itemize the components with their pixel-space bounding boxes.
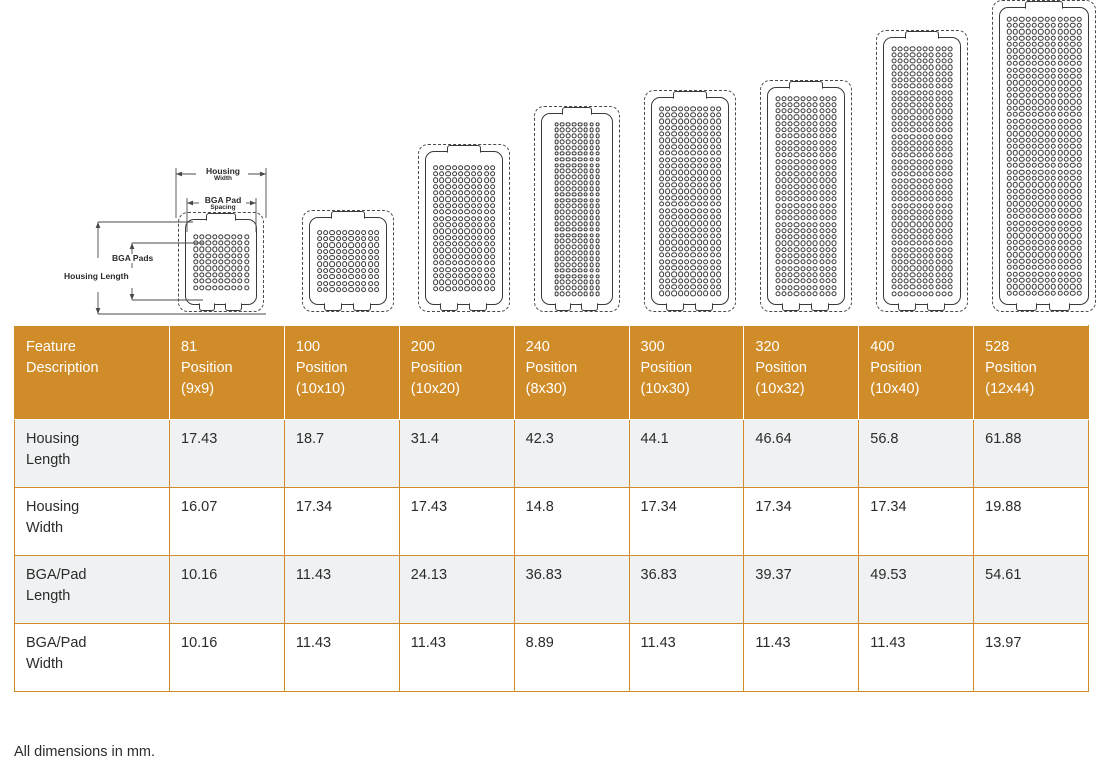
bga-pad [800,247,805,252]
bga-pad [554,163,559,168]
bga-pad [781,140,786,145]
bga-pad [825,197,830,202]
bga-pad [1006,61,1011,66]
bga-pad [560,204,565,209]
bga-pad [788,209,793,214]
bga-pad [578,163,583,168]
bga-pad [1013,208,1018,213]
bga-pad [1045,239,1050,244]
bga-pad [490,280,495,285]
bga-pad [361,236,366,241]
bga-pad [825,234,830,239]
bga-pad [349,242,354,247]
bga-pad [583,175,588,180]
bga-pad [1057,208,1062,213]
bga-pad [566,128,571,133]
bga-pad [897,96,902,101]
bga-pad [560,128,565,133]
bga-pad [775,121,780,126]
bga-pad [560,239,565,244]
bga-pad [1019,144,1024,149]
bga-pad [923,260,928,265]
bga-pad [1070,67,1075,72]
table-row: BGA/Pad Length10.1611.4324.1336.8336.833… [15,556,1089,624]
bga-pad [794,108,799,113]
bga-pad [566,169,571,174]
bga-pad [439,190,444,195]
bga-pad [490,254,495,259]
bga-pad [1025,157,1030,162]
bga-pad [819,184,824,189]
bga-pad [819,134,824,139]
bga-pad [659,265,664,270]
bga-pad [484,229,489,234]
bga-pad [1064,239,1069,244]
bga-pad [794,241,799,246]
bga-pad [1045,55,1050,60]
bga-pad [684,125,689,130]
bga-pad [477,197,482,202]
bga-pad [1019,176,1024,181]
bga-pad-grid [775,95,838,297]
bga-pad [897,203,902,208]
table-row: Housing Length17.4318.731.442.344.146.64… [15,420,1089,488]
bga-pad [819,253,824,258]
bga-pad [941,140,946,145]
bga-pad [941,234,946,239]
bga-pad [788,222,793,227]
bga-pad [697,106,702,111]
bga-pad [595,204,600,209]
bga-pad [1032,278,1037,283]
bga-pad [678,144,683,149]
bga-pad [897,140,902,145]
bga-pad [560,274,565,279]
bga-pad [697,265,702,270]
bga-pad [710,291,715,296]
bga-pad [1013,80,1018,85]
bga-pad [458,248,463,253]
bga-pad [935,197,940,202]
bga-pad [929,146,934,151]
bga-pad [671,106,676,111]
bga-pad [578,151,583,156]
bga-pad [572,233,577,238]
bga-pad [445,216,450,221]
bga-pad [1045,150,1050,155]
bga-pad [671,284,676,289]
bga-pad [832,228,837,233]
bga-pad [578,291,583,296]
bga-pad [471,260,476,265]
bga-pad [935,247,940,252]
header-line: (10x10) [296,379,388,400]
bga-pad [1013,188,1018,193]
bga-pad [781,241,786,246]
bga-pad [458,209,463,214]
bga-pad [1006,137,1011,142]
bga-pad [566,134,571,139]
bga-pad [923,90,928,95]
bga-pad [1013,55,1018,60]
bga-pad [1006,144,1011,149]
bga-pad [583,262,588,267]
bga-pad [465,171,470,176]
bga-pad [595,122,600,127]
bga-pad [800,222,805,227]
bga-pad [458,184,463,189]
bga-pad [794,134,799,139]
bga-pad [595,251,600,256]
bga-pad [781,285,786,290]
bga-pad [794,285,799,290]
bga-pad [916,291,921,296]
bga-pad [775,266,780,271]
bga-pad [1038,144,1043,149]
bga-pad [1045,278,1050,283]
bga-pad [1032,118,1037,123]
bga-pad [923,115,928,120]
bga-pad [445,248,450,253]
bga-pad [445,203,450,208]
row-header-cell: Housing Width [15,488,170,556]
bga-pad [445,190,450,195]
bga-pad [490,209,495,214]
bga-pad [788,159,793,164]
bga-pad [904,134,909,139]
bga-pad [465,235,470,240]
bga-pad [897,165,902,170]
bga-pad [1013,220,1018,225]
bga-pad [897,52,902,57]
bga-pad [1006,99,1011,104]
header-line: 81 [181,337,273,358]
bga-pad [560,210,565,215]
bga-pad [710,227,715,232]
bga-pad [484,222,489,227]
bga-pad [1025,259,1030,264]
bga-pad [1076,163,1081,168]
bga-pad [800,178,805,183]
bga-pad [941,103,946,108]
bga-pad [935,222,940,227]
bga-pad [781,102,786,107]
bga-pad [794,215,799,220]
bga-pad [703,138,708,143]
bga-pad [361,274,366,279]
bga-pad [1032,125,1037,130]
bga-pad [439,203,444,208]
bga-pad [832,278,837,283]
bga-pad [1032,93,1037,98]
bga-pad [684,284,689,289]
bga-pad [439,229,444,234]
bga-pad [910,96,915,101]
bga-pad [948,272,953,277]
bga-pad [578,157,583,162]
bga-pad [910,165,915,170]
bga-pad [1032,182,1037,187]
bga-pad [703,112,708,117]
header-line: 400 [870,337,962,358]
bga-pad [916,216,921,221]
bga-pad [891,260,896,265]
bga-pad [941,59,946,64]
bga-pad [897,128,902,133]
bga-pad [659,221,664,226]
bga-pad [659,240,664,245]
bga-pad [916,260,921,265]
bga-pad [589,169,594,174]
bga-pad [1019,74,1024,79]
bga-pad [589,227,594,232]
bga-pad [589,128,594,133]
bga-pad [1076,86,1081,91]
bga-pad [935,178,940,183]
bga-pad [1032,48,1037,53]
bga-pad [665,214,670,219]
bga-pad [458,203,463,208]
bga-pad [583,251,588,256]
bga-pad [1038,252,1043,257]
bga-pad [566,175,571,180]
bga-pad [897,77,902,82]
bga-pad [1045,220,1050,225]
header-line: (10x40) [870,379,962,400]
bga-pad [710,163,715,168]
bga-pad [1057,48,1062,53]
bga-pad [1032,227,1037,232]
bga-pad [465,197,470,202]
bga-pad [916,46,921,51]
bga-pad [1064,55,1069,60]
bga-pad [595,198,600,203]
bga-pad [916,178,921,183]
bga-pad [1045,74,1050,79]
bga-pad [433,273,438,278]
bga-pad [433,254,438,259]
bga-pad [1057,125,1062,130]
shell-notch [353,303,371,311]
bga-pad [554,139,559,144]
bga-pad [484,197,489,202]
bga-pad [807,247,812,252]
bga-pad [910,253,915,258]
dimension-cell: 56.8 [859,420,974,488]
shell-notch [562,107,593,115]
bga-pad [1051,86,1056,91]
bga-pad [1038,233,1043,238]
bga-pad [1019,55,1024,60]
bga-pad [781,209,786,214]
bga-pad [891,159,896,164]
bga-pad [1051,233,1056,238]
bga-pad [923,266,928,271]
bga-pad [578,192,583,197]
bga-pad [781,253,786,258]
bga-pad [1051,157,1056,162]
shell-notch [811,303,829,311]
bga-pad [891,65,896,70]
bga-pad [832,127,837,132]
bga-pad [349,262,354,267]
bga-pad [819,159,824,164]
bga-pad [904,285,909,290]
bga-pad [1032,144,1037,149]
bga-pad [1019,80,1024,85]
bga-pad [471,184,476,189]
bga-pad [1045,233,1050,238]
bga-pad [1051,201,1056,206]
bga-pad [554,128,559,133]
bga-pad [477,229,482,234]
bga-pad [1045,125,1050,130]
bga-pad [665,208,670,213]
bga-pad [948,247,953,252]
bga-pad [572,180,577,185]
bga-pad [781,115,786,120]
bga-pad [825,153,830,158]
bga-pad [948,77,953,82]
bga-pad [703,272,708,277]
bga-pad [1057,150,1062,155]
bga-pad [471,190,476,195]
bga-pad [566,145,571,150]
bga-pad [825,96,830,101]
bga-pad [665,144,670,149]
bga-pad [710,214,715,219]
bga-pad [678,214,683,219]
bga-pad [813,171,818,176]
bga-pad [825,253,830,258]
bga-pad [484,280,489,285]
bga-pad [1045,290,1050,295]
bga-pad [368,274,373,279]
bga-pad [923,272,928,277]
bga-pad [1070,86,1075,91]
bga-pad [691,214,696,219]
bga-pad [572,291,577,296]
bga-pad [1019,201,1024,206]
bga-pad [716,138,721,143]
bga-pad [374,242,379,247]
bga-pad [1057,259,1062,264]
bga-pad [349,236,354,241]
bga-pad [1019,61,1024,66]
bga-pad [807,153,812,158]
bga-pad [566,291,571,296]
bga-pad [929,46,934,51]
bga-pad [684,176,689,181]
bga-pad [1051,284,1056,289]
bga-pad [788,278,793,283]
bga-pad [1019,284,1024,289]
bga-pad [794,153,799,158]
bga-pad [775,159,780,164]
bga-pad [671,151,676,156]
bga-pad [1045,265,1050,270]
bga-pad [595,268,600,273]
header-line: Position [755,358,847,379]
bga-pad [1038,271,1043,276]
bga-pad [800,146,805,151]
bga-pad [1013,99,1018,104]
bga-pad [897,241,902,246]
bga-pad [578,239,583,244]
bga-pad [897,291,902,296]
bga-pad [929,84,934,89]
bga-pad [948,52,953,57]
bga-pad [1025,150,1030,155]
bga-pad [1025,182,1030,187]
bga-pad [775,108,780,113]
bga-pad [929,103,934,108]
bga-pad [897,153,902,158]
bga-pad [1013,48,1018,53]
bga-pad [1070,233,1075,238]
bga-pad [1025,99,1030,104]
bga-pad [1019,112,1024,117]
bga-pad [572,122,577,127]
bga-pad [923,165,928,170]
row-header-cell: BGA/Pad Length [15,556,170,624]
bga-pad [1019,214,1024,219]
bga-pad [659,176,664,181]
bga-pad [800,197,805,202]
bga-pad [916,121,921,126]
bga-pad [794,203,799,208]
bga-pad [684,221,689,226]
bga-pad [433,267,438,272]
bga-pad [1013,150,1018,155]
bga-pad [452,235,457,240]
bga-pad [374,287,379,292]
bga-pad [484,216,489,221]
bga-pad [904,140,909,145]
bga-pad [935,216,940,221]
bga-pad [665,138,670,143]
bga-pad [452,209,457,214]
bga-pad [1051,118,1056,123]
bga-pad [697,284,702,289]
bga-pad [1057,220,1062,225]
column-header-position: 81Position(9x9) [170,326,285,420]
bga-pad [665,221,670,226]
bga-pad [1025,23,1030,28]
bga-pad [929,216,934,221]
bga-pad [897,178,902,183]
bga-pad [578,268,583,273]
bga-pad [775,253,780,258]
bga-pad [1032,246,1037,251]
bga-pad [1057,201,1062,206]
dimension-cell: 49.53 [859,556,974,624]
bga-pad [554,274,559,279]
bga-pad [566,274,571,279]
bga-pad [439,280,444,285]
bga-pad [800,159,805,164]
bga-pad [445,209,450,214]
bga-pad [916,228,921,233]
bga-pad [1070,42,1075,47]
bga-pad [916,165,921,170]
bga-pad [1070,48,1075,53]
bga-pad [659,144,664,149]
bga-pad [1038,106,1043,111]
bga-pad [671,157,676,162]
bga-pad [935,52,940,57]
bga-pad [941,172,946,177]
